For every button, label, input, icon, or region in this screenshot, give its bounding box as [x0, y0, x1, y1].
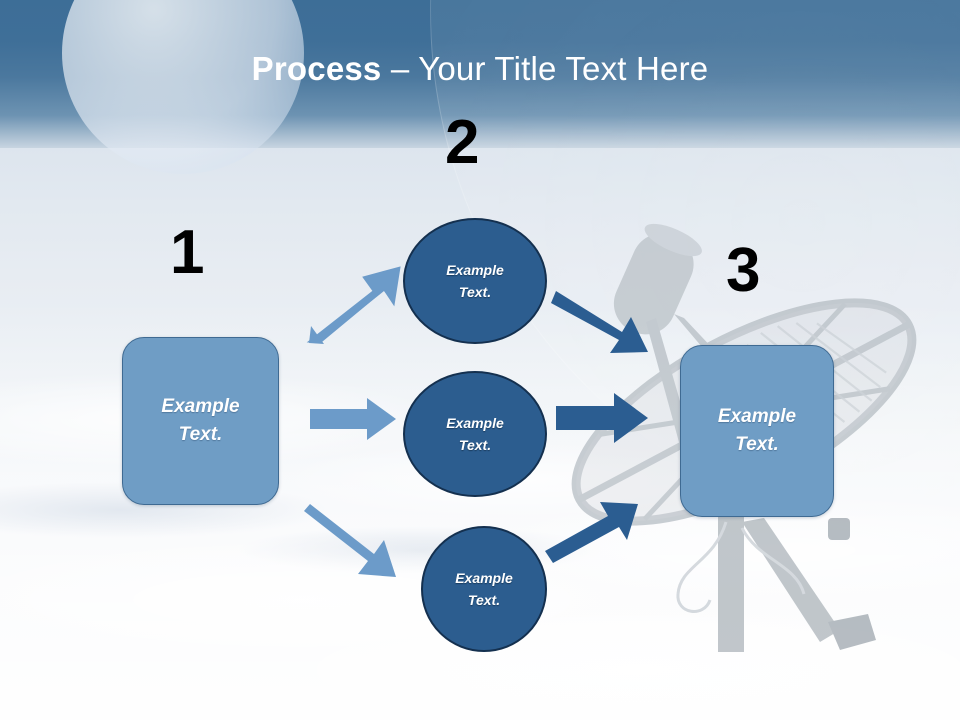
process-circle-top-line2: Text. [459, 281, 491, 303]
step-number-1: 1 [170, 222, 204, 284]
process-box-right[interactable]: Example Text. [680, 345, 834, 517]
title-light-part: Your Title Text Here [418, 50, 708, 87]
title-dash: – [381, 50, 418, 87]
process-box-left[interactable]: Example Text. [122, 337, 279, 505]
process-box-right-line1: Example [718, 403, 796, 431]
process-circle-bottom-line1: Example [455, 567, 513, 589]
process-circle-bottom[interactable]: Example Text. [421, 526, 547, 652]
step-number-2: 2 [445, 112, 479, 174]
slide-canvas: Process – Your Title Text Here 1 2 3 Exa… [0, 0, 960, 720]
process-circle-top-line1: Example [446, 259, 504, 281]
process-circle-middle-line2: Text. [459, 434, 491, 456]
process-box-right-line2: Text. [735, 431, 779, 459]
process-circle-top[interactable]: Example Text. [403, 218, 547, 344]
process-circle-middle[interactable]: Example Text. [403, 371, 547, 497]
process-circle-middle-line1: Example [446, 412, 504, 434]
process-circle-bottom-line2: Text. [468, 589, 500, 611]
title-bold-part: Process [252, 50, 382, 87]
process-box-left-line1: Example [161, 393, 239, 421]
process-box-left-line2: Text. [179, 421, 223, 449]
slide-title: Process – Your Title Text Here [0, 50, 960, 88]
step-number-3: 3 [726, 240, 760, 302]
